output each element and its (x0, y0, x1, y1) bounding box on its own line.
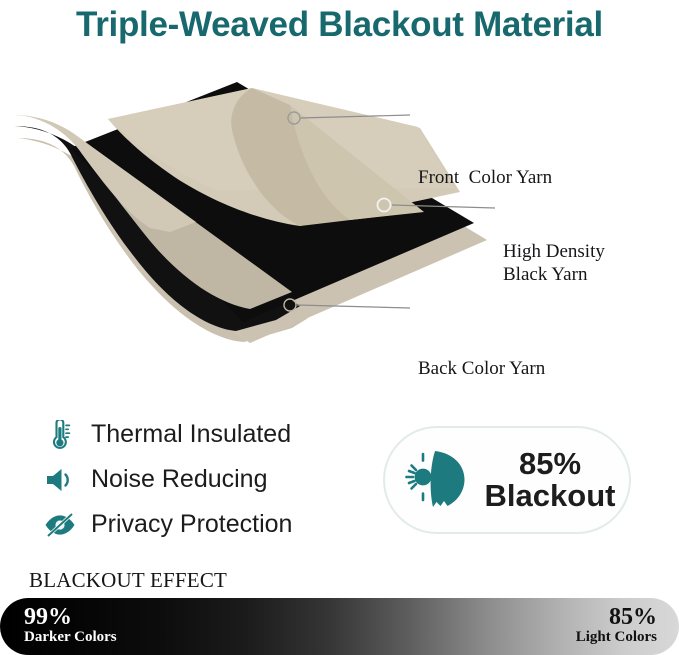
badge-percent-value: 85% (519, 448, 581, 480)
feature-list: Thermal Insulated Noise Reducing Privacy… (40, 412, 370, 547)
feature-row-noise-reducing: Noise Reducing (40, 457, 370, 502)
bar-stat-light-caption: Light Colors (576, 630, 657, 646)
feature-label-thermal-insulated: Thermal Insulated (91, 420, 291, 449)
sun-behind-curtain-icon (399, 444, 477, 516)
thermometer-icon (40, 415, 80, 455)
callout-label-back: Back Color Yarn (418, 357, 545, 380)
bar-stat-light-value: 85% (609, 605, 657, 630)
eye-slash-icon (40, 505, 80, 545)
blackout-effect-heading: BLACKOUT EFFECT (29, 568, 227, 593)
callout-label-front: Front Color Yarn (418, 166, 552, 189)
bar-stat-darker-value: 99% (24, 605, 72, 630)
callout-label-middle: High Density Black Yarn (503, 240, 605, 286)
feature-label-privacy-protection: Privacy Protection (91, 510, 292, 539)
badge-blackout-label: Blackout (485, 480, 616, 512)
bar-stat-darker-colors: 99% Darker Colors (24, 605, 117, 646)
badge-text-block: 85% Blackout (485, 448, 616, 511)
page-title: Triple-Weaved Blackout Material (0, 0, 679, 50)
speaker-sound-icon (40, 460, 80, 500)
blackout-percentage-badge: 85% Blackout (383, 426, 631, 534)
bar-stat-light-colors: 85% Light Colors (576, 605, 657, 646)
feature-label-noise-reducing: Noise Reducing (91, 465, 268, 494)
blackout-gradient-bar: 99% Darker Colors 85% Light Colors (0, 598, 679, 655)
fabric-layers-diagram: Front Color Yarn High Density Black Yarn… (0, 60, 679, 390)
feature-row-thermal-insulated: Thermal Insulated (40, 412, 370, 457)
bar-stat-darker-caption: Darker Colors (24, 630, 117, 646)
feature-row-privacy-protection: Privacy Protection (40, 502, 370, 547)
